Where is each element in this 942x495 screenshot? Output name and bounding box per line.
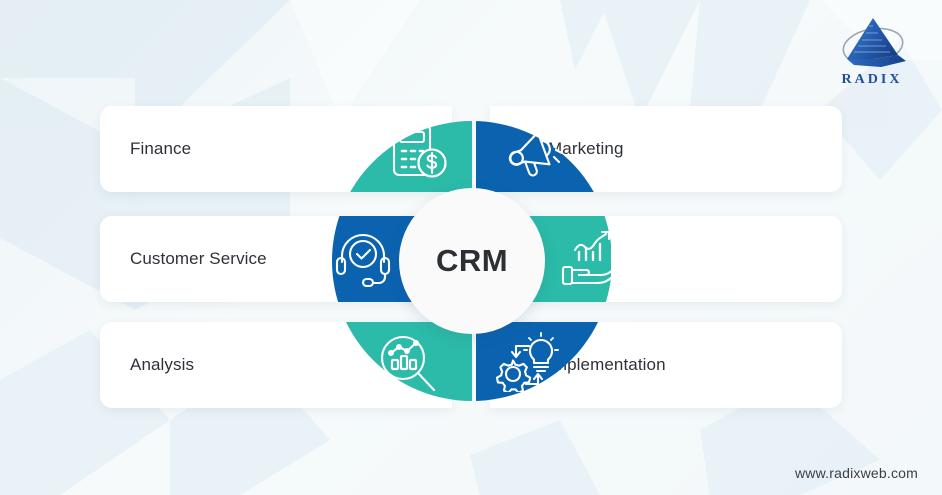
card-label-marketing: Marketing [548,139,624,159]
card-analysis[interactable]: Analysis [100,322,452,408]
card-implementation[interactable]: Implementation [490,322,842,408]
card-finance[interactable]: Finance [100,106,452,192]
row-finance-marketing: Finance Marketing [100,106,842,192]
card-label-analysis: Analysis [130,355,194,375]
card-label-implementation: Implementation [548,355,666,375]
card-label-customer-service: Customer Service [130,249,267,269]
footer-url: www.radixweb.com [795,465,918,481]
card-label-finance: Finance [130,139,191,159]
infographic-canvas: RADIX Finance Marketing Customer Service… [0,0,942,495]
hub-label: CRM [436,243,508,279]
row-analysis-implementation: Analysis Implementation [100,322,842,408]
card-marketing[interactable]: Marketing [490,106,842,192]
crm-hub: CRM [399,188,545,334]
card-label-sales: Sales [548,249,591,269]
